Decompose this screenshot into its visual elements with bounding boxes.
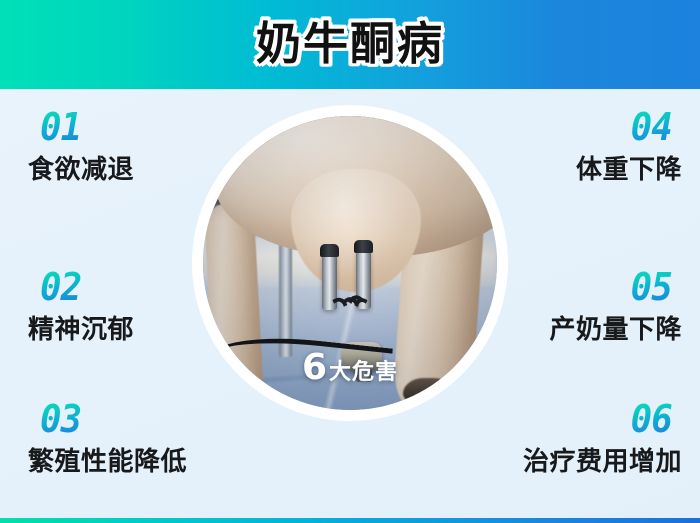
page-title: 奶牛酮病	[256, 21, 444, 68]
footer-accent-bar	[0, 518, 700, 523]
header-banner: 奶牛酮病	[0, 0, 700, 89]
list-item-04: 04 体重下降	[452, 108, 682, 185]
item-number: 03	[40, 400, 81, 438]
list-item-02: 02 精神沉郁	[18, 268, 248, 345]
item-number: 02	[40, 268, 81, 306]
list-item-05: 05 产奶量下降	[452, 268, 682, 345]
item-label: 治疗费用增加	[452, 448, 682, 477]
item-number: 01	[40, 108, 81, 146]
item-label: 产奶量下降	[452, 316, 682, 345]
list-item-03: 03 繁殖性能降低	[18, 400, 248, 477]
item-label: 精神沉郁	[28, 316, 248, 345]
list-item-01: 01 食欲减退	[18, 108, 248, 185]
infographic-poster: 奶牛酮病	[0, 0, 700, 523]
item-label: 繁殖性能降低	[28, 448, 248, 477]
item-label: 体重下降	[452, 156, 682, 185]
item-number: 04	[631, 108, 672, 146]
item-label: 食欲减退	[28, 156, 248, 185]
list-item-06: 06 治疗费用增加	[452, 400, 682, 477]
item-number: 06	[631, 400, 672, 438]
item-number: 05	[631, 268, 672, 306]
